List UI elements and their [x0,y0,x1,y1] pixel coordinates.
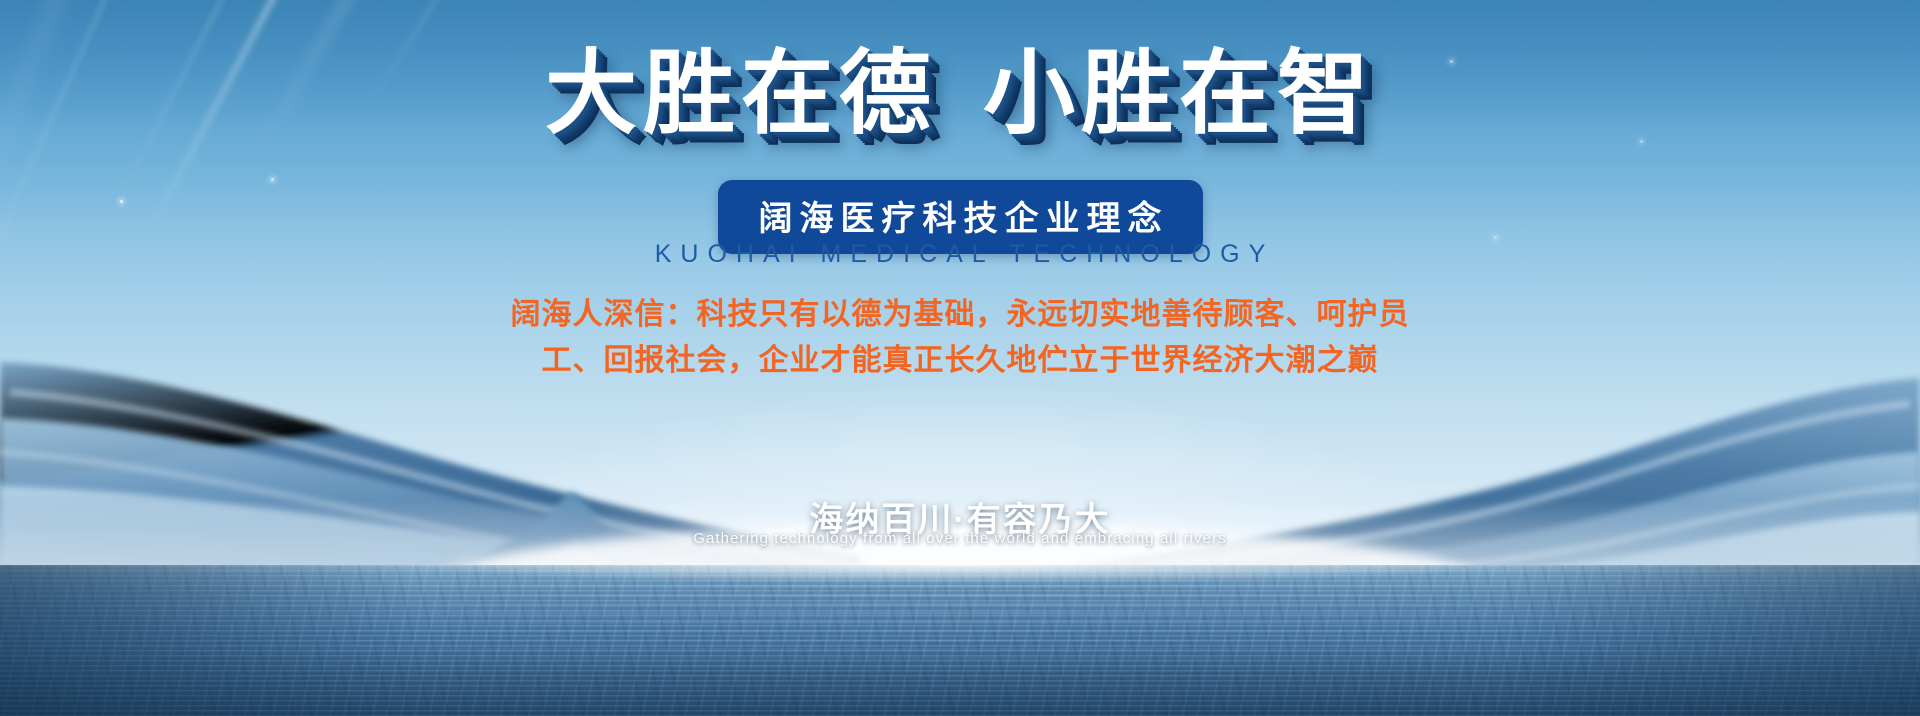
page-title: 大胜在德小胜在智 [0,46,1920,143]
paragraph-line-2: 工、回报社会，企业才能真正长久地伫立于世界经济大潮之巅 [0,338,1920,384]
slogan-english: Gathering technology from all over the w… [0,530,1920,547]
water-vignette [0,565,1920,716]
sea-surface [0,565,1920,716]
headline-right: 小胜在智 [983,43,1375,145]
philosophy-paragraph: 阔海人深信：科技只有以德为基础，永远切实地善待顾客、呵护员 工、回报社会，企业才… [0,292,1920,384]
promo-banner: 大胜在德小胜在智 阔海医疗科技企业理念 KUOHAI MEDICAL TECHN… [0,0,1920,716]
paragraph-line-1: 阔海人深信：科技只有以德为基础，永远切实地善待顾客、呵护员 [0,292,1920,338]
subtitle-english: KUOHAI MEDICAL TECHNOLOGY [0,240,1920,269]
headline-left: 大胜在德 [545,43,937,145]
